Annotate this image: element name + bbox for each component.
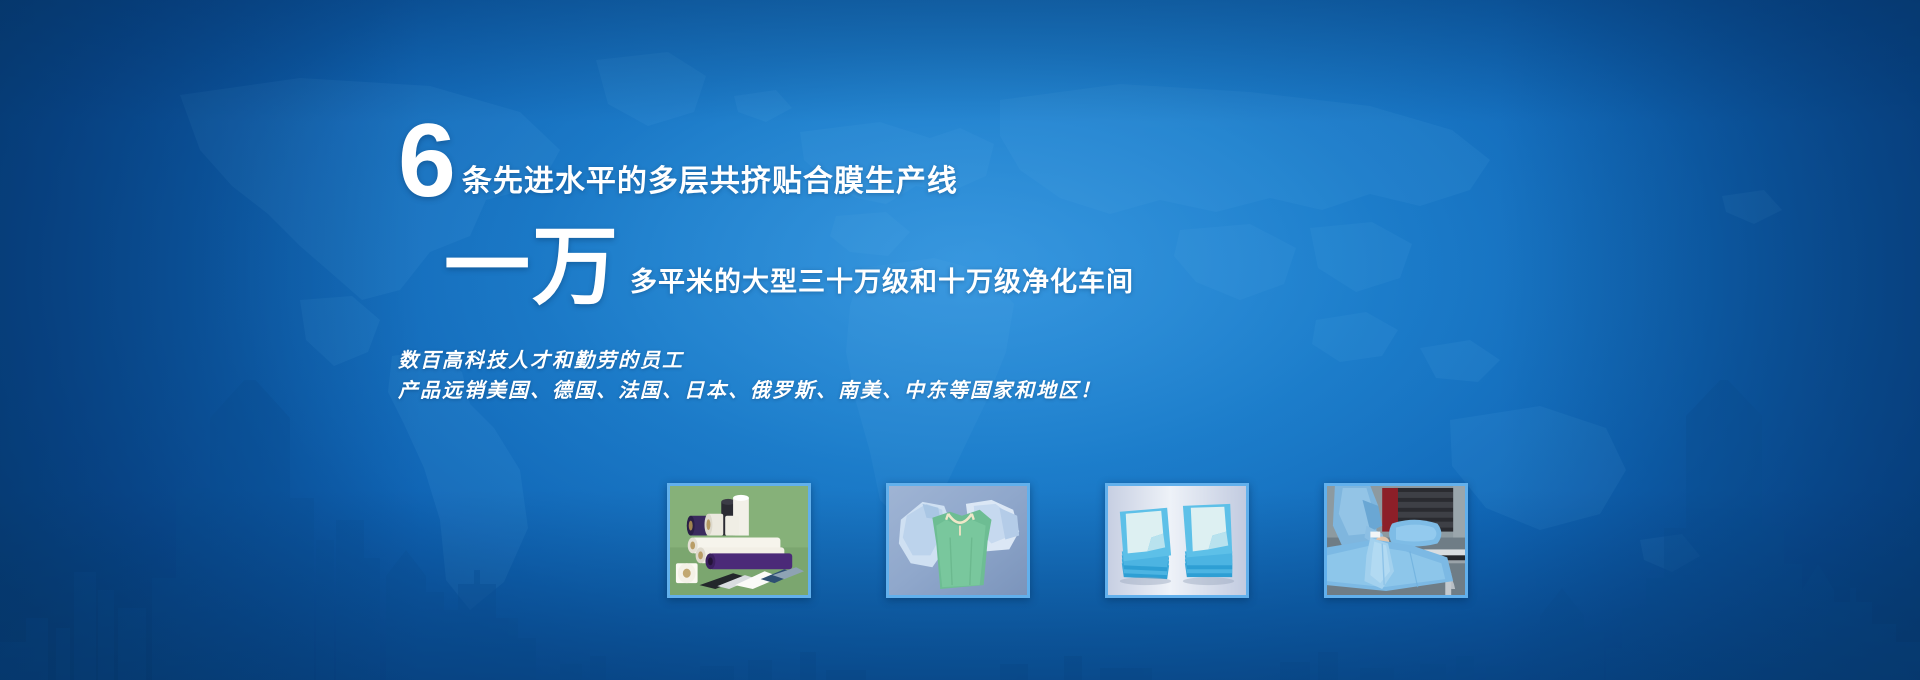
surgical-gowns-image — [889, 486, 1027, 595]
subtitle-line-1: 数百高科技人才和勤劳的员工 — [398, 346, 1498, 376]
draped-hospital-bed-image — [1327, 486, 1465, 595]
plastic-film-rolls-image — [670, 486, 808, 595]
subtitle-block: 数百高科技人才和勤劳的员工 产品远销美国、德国、法国、日本、俄罗斯、南美、中东等… — [398, 346, 1498, 406]
thumbnail-surgical-gowns[interactable] — [886, 483, 1030, 598]
subtitle-line-2: 产品远销美国、德国、法国、日本、俄罗斯、南美、中东等国家和地区！ — [398, 376, 1498, 406]
thumbnail-plastic-film-rolls[interactable] — [667, 483, 811, 598]
headline-line-2: 一万 多平米的大型三十万级和十万级净化车间 — [398, 220, 1498, 306]
thumbnail-draped-hospital-bed[interactable] — [1324, 483, 1468, 598]
promo-banner: 6 条先进水平的多层共挤贴合膜生产线 一万 多平米的大型三十万级和十万级净化车间… — [0, 0, 1920, 680]
product-thumbnail-strip — [667, 483, 1468, 598]
headline-block: 6 条先进水平的多层共挤贴合膜生产线 一万 多平米的大型三十万级和十万级净化车间… — [398, 118, 1498, 406]
headline-number-6: 6 — [398, 119, 454, 204]
headline-line-2-text: 多平米的大型三十万级和十万级净化车间 — [620, 260, 1134, 306]
surgical-drapes-image — [1108, 486, 1246, 595]
headline-line-1-text: 条先进水平的多层共挤贴合膜生产线 — [454, 156, 958, 204]
thumbnail-surgical-drapes[interactable] — [1105, 483, 1249, 598]
headline-line-1: 6 条先进水平的多层共挤贴合膜生产线 — [398, 118, 1498, 204]
headline-number-ten-thousand: 一万 — [444, 230, 620, 306]
